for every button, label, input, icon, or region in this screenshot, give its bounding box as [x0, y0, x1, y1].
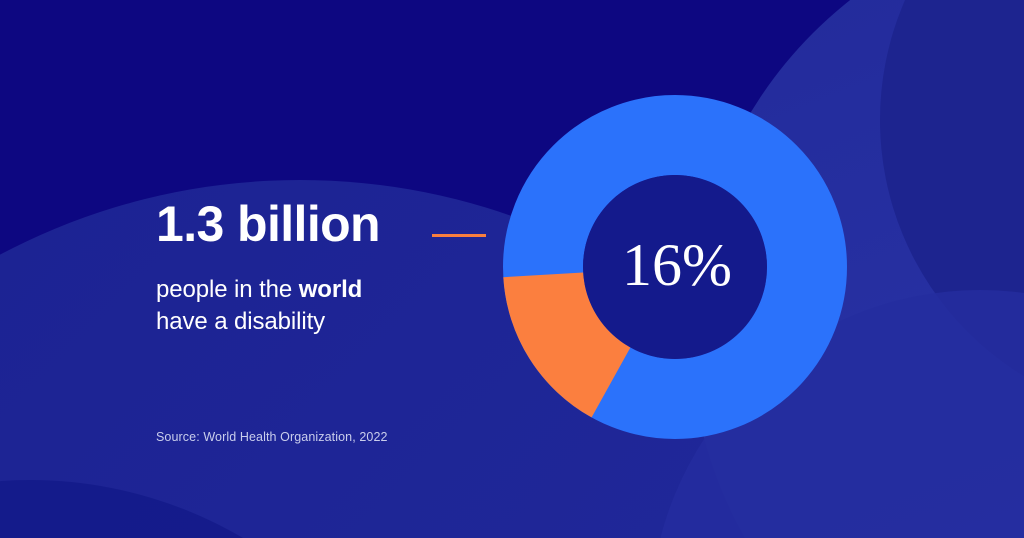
- donut-center-label: 16%: [622, 235, 732, 295]
- text-block: 1.3 billion people in the worldhave a di…: [156, 196, 486, 338]
- subline-part-1: people in the: [156, 276, 299, 303]
- infographic-canvas: 16% 1.3 billion people in the worldhave …: [0, 0, 1024, 538]
- source-caption: Source: World Health Organization, 2022: [156, 429, 388, 445]
- donut-center-label-wrap: 16%: [503, 95, 847, 439]
- subline: people in the worldhave a disability: [156, 274, 486, 338]
- subline-part-2: have a disability: [156, 308, 325, 335]
- subline-emphasis: world: [299, 276, 363, 303]
- headline: 1.3 billion: [156, 196, 486, 252]
